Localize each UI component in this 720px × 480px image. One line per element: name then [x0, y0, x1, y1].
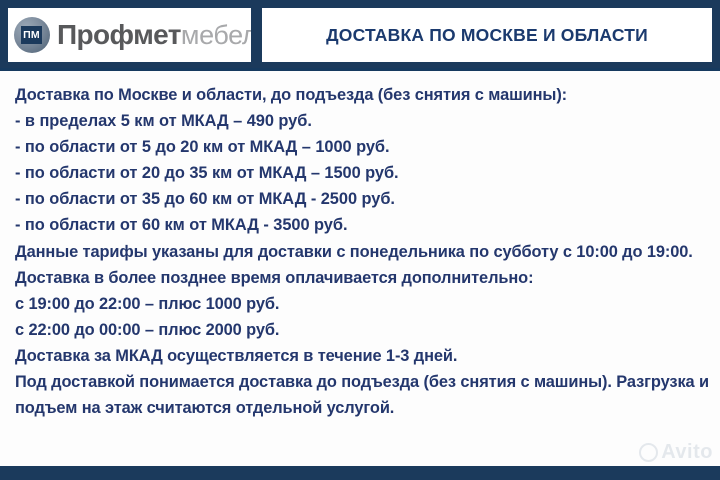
company-name-light: мебель	[181, 20, 251, 51]
terms-line: с 19:00 до 22:00 – плюс 1000 руб.	[15, 291, 709, 317]
company-logo-icon: ПМ	[14, 17, 50, 53]
logo-badge-text: ПМ	[21, 26, 42, 44]
terms-line: Данные тарифы указаны для доставки с пон…	[15, 239, 709, 265]
terms-line: - по области от 60 км от МКАД - 3500 руб…	[15, 212, 709, 238]
company-name-strong: Профмет	[57, 19, 181, 51]
delivery-terms-body: Доставка по Москве и области, до подъезд…	[0, 71, 720, 466]
delivery-info-banner: ПМ Профметмебель ДОСТАВКА ПО МОСКВЕ И ОБ…	[0, 0, 720, 480]
terms-line: - в пределах 5 км от МКАД – 490 руб.	[15, 108, 709, 134]
terms-line: - по области от 35 до 60 км от МКАД - 25…	[15, 186, 709, 212]
terms-line: - по области от 20 до 35 км от МКАД – 15…	[15, 160, 709, 186]
page-title: ДОСТАВКА ПО МОСКВЕ И ОБЛАСТИ	[326, 25, 648, 46]
header-band: ПМ Профметмебель ДОСТАВКА ПО МОСКВЕ И ОБ…	[0, 0, 720, 68]
terms-line: Доставка в более позднее время оплачивае…	[15, 265, 709, 291]
terms-line: Доставка по Москве и области, до подъезд…	[15, 82, 709, 108]
terms-line: - по области от 5 до 20 км от МКАД – 100…	[15, 134, 709, 160]
logo-panel: ПМ Профметмебель	[8, 8, 251, 62]
bottom-frame-band	[0, 466, 720, 480]
title-panel: ДОСТАВКА ПО МОСКВЕ И ОБЛАСТИ	[262, 8, 712, 62]
company-name: Профметмебель	[57, 19, 251, 51]
terms-line: Доставка за МКАД осуществляется в течени…	[15, 343, 709, 369]
terms-line: с 22:00 до 00:00 – плюс 2000 руб.	[15, 317, 709, 343]
terms-line: Под доставкой понимается доставка до под…	[15, 369, 709, 421]
